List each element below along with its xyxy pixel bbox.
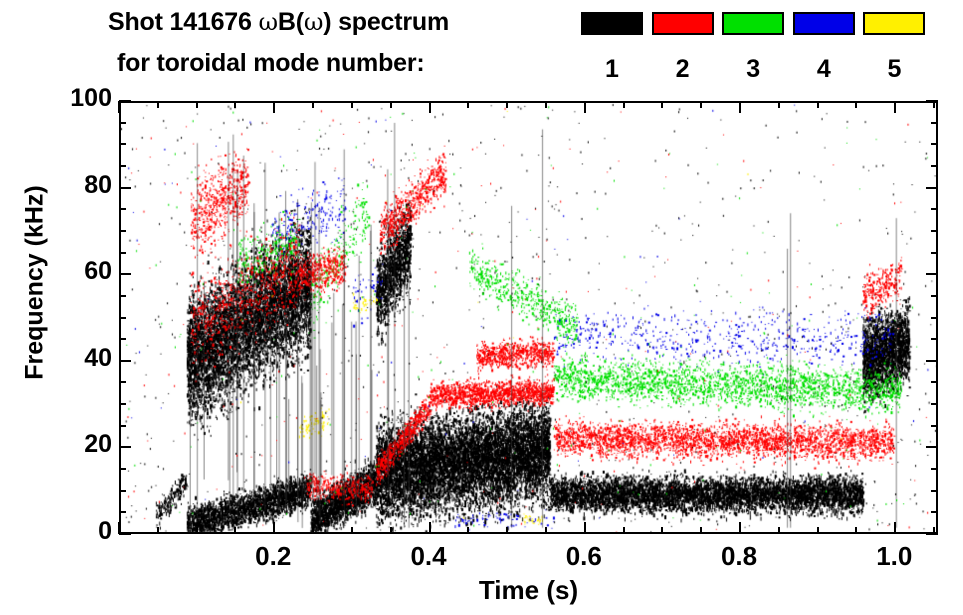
y-tick-label-20: 20 — [40, 430, 112, 459]
x-tick-top-1.00 — [894, 101, 896, 113]
x-tick-top-0.90 — [817, 101, 819, 108]
y-tick-right-90 — [931, 143, 938, 145]
y-tick-80 — [119, 187, 131, 189]
x-tick-top-0.60 — [584, 101, 586, 113]
x-tick-top-0.35 — [390, 101, 392, 108]
x-tick-top-0.55 — [545, 101, 547, 108]
y-tick-right-65 — [931, 252, 938, 254]
x-tick-top-0.50 — [506, 101, 508, 108]
title-prefix: Shot 141676 — [108, 8, 258, 36]
y-tick-right-0 — [926, 533, 938, 535]
x-tick-top-0.20 — [273, 101, 275, 113]
omega-symbol-2: ω — [304, 8, 323, 36]
x-tick-0.40 — [429, 522, 431, 534]
x-tick-0.70 — [661, 527, 663, 534]
y-tick-right-10 — [931, 490, 938, 492]
y-tick-25 — [119, 425, 126, 427]
x-tick-top-0.75 — [700, 101, 702, 108]
x-tick-label-0.4: 0.4 — [389, 541, 469, 572]
y-tick-75 — [119, 208, 126, 210]
chart-title-line-1: Shot 141676 ωB(ω) spectrum — [108, 8, 449, 37]
x-tick-label-0.8: 0.8 — [699, 541, 779, 572]
y-tick-45 — [119, 338, 126, 340]
y-tick-15 — [119, 468, 126, 470]
legend-label-5: 5 — [863, 55, 925, 84]
y-tick-label-40: 40 — [40, 344, 112, 373]
y-tick-right-70 — [931, 230, 938, 232]
x-tick-top-0.10 — [196, 101, 198, 108]
x-tick-1.00 — [894, 522, 896, 534]
y-tick-label-80: 80 — [40, 171, 112, 200]
y-tick-10 — [119, 490, 126, 492]
y-tick-right-25 — [931, 425, 938, 427]
x-tick-label-0.2: 0.2 — [233, 541, 313, 572]
x-tick-top-0.00 — [118, 101, 120, 113]
y-tick-40 — [119, 360, 131, 362]
legend-swatch-5 — [863, 12, 925, 35]
legend-label-3: 3 — [722, 55, 784, 84]
y-tick-label-100: 100 — [40, 84, 112, 113]
x-tick-0.50 — [506, 527, 508, 534]
x-tick-0.80 — [739, 522, 741, 534]
y-tick-right-100 — [926, 100, 938, 102]
x-tick-top-0.95 — [855, 101, 857, 108]
y-tick-right-15 — [931, 468, 938, 470]
x-tick-1.05 — [933, 527, 935, 534]
x-tick-0.55 — [545, 527, 547, 534]
y-tick-65 — [119, 252, 126, 254]
chart-title-line-2: for toroidal mode number: — [117, 49, 425, 78]
y-tick-right-80 — [926, 187, 938, 189]
y-tick-label-0: 0 — [40, 517, 112, 546]
x-tick-top-0.85 — [778, 101, 780, 108]
x-tick-top-0.70 — [661, 101, 663, 108]
x-axis-label: Time (s) — [119, 575, 938, 606]
y-tick-90 — [119, 143, 126, 145]
x-tick-0.85 — [778, 527, 780, 534]
x-tick-0.75 — [700, 527, 702, 534]
y-tick-label-60: 60 — [40, 257, 112, 286]
x-tick-top-0.30 — [351, 101, 353, 108]
x-tick-0.35 — [390, 527, 392, 534]
plot-area — [119, 101, 938, 534]
legend-label-1: 1 — [581, 55, 643, 84]
y-tick-right-95 — [931, 122, 938, 124]
legend-label-2: 2 — [652, 55, 714, 84]
y-tick-right-20 — [926, 446, 938, 448]
x-tick-top-1.05 — [933, 101, 935, 108]
y-tick-right-40 — [926, 360, 938, 362]
x-tick-top-0.15 — [234, 101, 236, 108]
legend-label-4: 4 — [793, 55, 855, 84]
y-tick-right-55 — [931, 295, 938, 297]
spectrogram-canvas — [121, 103, 936, 532]
y-tick-50 — [119, 317, 126, 319]
x-tick-0.10 — [196, 527, 198, 534]
x-tick-0.45 — [467, 527, 469, 534]
y-tick-right-5 — [931, 511, 938, 513]
y-tick-5 — [119, 511, 126, 513]
y-tick-70 — [119, 230, 126, 232]
x-tick-0.60 — [584, 522, 586, 534]
y-tick-95 — [119, 122, 126, 124]
y-tick-100 — [119, 100, 131, 102]
x-tick-top-0.80 — [739, 101, 741, 113]
x-tick-label-0.6: 0.6 — [544, 541, 624, 572]
x-tick-top-0.25 — [312, 101, 314, 108]
x-tick-0.15 — [234, 527, 236, 534]
x-tick-0.20 — [273, 522, 275, 534]
title-mid: B( — [278, 8, 304, 36]
y-tick-right-45 — [931, 338, 938, 340]
y-tick-right-50 — [931, 317, 938, 319]
y-tick-right-30 — [931, 403, 938, 405]
legend-swatch-2 — [652, 12, 714, 35]
y-tick-right-60 — [926, 273, 938, 275]
x-tick-0.05 — [157, 527, 159, 534]
y-tick-60 — [119, 273, 131, 275]
y-axis-label: Frequency (kHz) — [21, 153, 50, 413]
x-tick-top-0.45 — [467, 101, 469, 108]
y-tick-55 — [119, 295, 126, 297]
x-tick-0.65 — [623, 527, 625, 534]
x-tick-label-1.0: 1.0 — [854, 541, 934, 572]
x-tick-0.95 — [855, 527, 857, 534]
y-tick-30 — [119, 403, 126, 405]
spectrogram-figure: Shot 141676 ωB(ω) spectrum for toroidal … — [0, 0, 963, 615]
omega-symbol-1: ω — [258, 8, 277, 36]
legend-swatch-3 — [722, 12, 784, 35]
y-tick-20 — [119, 446, 131, 448]
title-suffix: ) spectrum — [323, 8, 449, 36]
y-tick-right-85 — [931, 165, 938, 167]
y-tick-85 — [119, 165, 126, 167]
legend-swatch-1 — [581, 12, 643, 35]
y-tick-right-75 — [931, 208, 938, 210]
y-tick-right-35 — [931, 381, 938, 383]
x-tick-0.90 — [817, 527, 819, 534]
x-tick-top-0.40 — [429, 101, 431, 113]
x-tick-0.00 — [118, 522, 120, 534]
y-tick-0 — [119, 533, 131, 535]
x-tick-top-0.05 — [157, 101, 159, 108]
y-tick-35 — [119, 381, 126, 383]
x-tick-top-0.65 — [623, 101, 625, 108]
x-tick-0.30 — [351, 527, 353, 534]
x-tick-0.25 — [312, 527, 314, 534]
legend-swatch-4 — [793, 12, 855, 35]
